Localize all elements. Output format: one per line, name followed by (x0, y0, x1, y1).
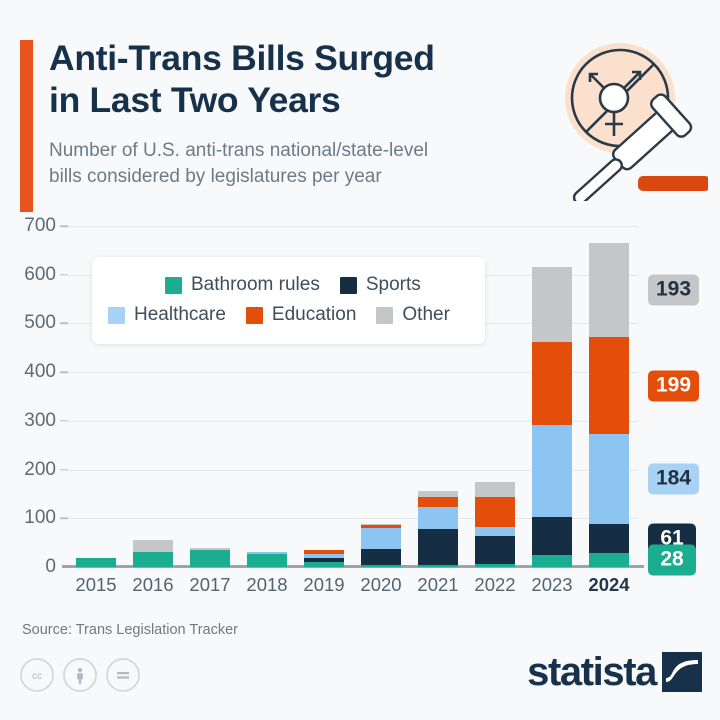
legend-swatch-icon (108, 307, 125, 324)
x-tick-2015: 2015 (66, 574, 126, 596)
svg-text:cc: cc (32, 671, 42, 682)
bar-segment (475, 497, 515, 527)
x-tick-2020: 2020 (351, 574, 411, 596)
bar-segment (589, 337, 629, 434)
x-tick-2024: 2024 (579, 574, 639, 596)
bar-column-2021[interactable] (418, 491, 458, 567)
bar-segment (190, 550, 230, 567)
bar-segment (418, 529, 458, 566)
legend-label: Education (272, 304, 357, 326)
bar-column-2020[interactable] (361, 524, 401, 567)
y-tick-400: 400 (8, 361, 56, 383)
legend-swatch-icon (165, 277, 182, 294)
infographic-root: Anti-Trans Bills Surged in Last Two Year… (0, 0, 720, 720)
y-tick-100: 100 (8, 507, 56, 529)
bar-column-2022[interactable] (475, 482, 515, 567)
bar-column-2015[interactable] (76, 558, 116, 567)
bar-column-2023[interactable] (532, 267, 572, 567)
bar-segment (475, 536, 515, 564)
bar-column-2017[interactable] (190, 548, 230, 567)
bar-segment (361, 565, 401, 567)
value-label-bathroom-rules: 28 (648, 545, 696, 576)
bar-segment (532, 342, 572, 425)
bar-segment (304, 554, 344, 558)
bar-segment (475, 482, 515, 497)
bar-segment (304, 562, 344, 567)
bar-segment (304, 550, 344, 554)
bar-segment (418, 507, 458, 528)
y-tick-300: 300 (8, 410, 56, 432)
y-tick-mark (60, 323, 68, 325)
bar-segment (247, 552, 287, 554)
page-title: Anti-Trans Bills Surged in Last Two Year… (49, 38, 529, 122)
page-subtitle: Number of U.S. anti-trans national/state… (49, 138, 549, 189)
bar-segment (418, 497, 458, 507)
bar-segment (133, 540, 173, 553)
bar-segment (418, 565, 458, 567)
legend-item-education[interactable]: Education (246, 304, 357, 326)
bar-column-2019[interactable] (304, 550, 344, 567)
bar-segment (133, 552, 173, 567)
y-tick-500: 500 (8, 312, 56, 334)
legend-label: Healthcare (134, 304, 226, 326)
value-label-column: 1931991846128 (648, 212, 720, 602)
no-trans-gavel-illustration (548, 36, 708, 201)
bar-segment (532, 267, 572, 343)
x-tick-2018: 2018 (237, 574, 297, 596)
accent-bar (20, 40, 33, 212)
no-derivatives-icon (106, 658, 140, 692)
bar-segment (475, 564, 515, 567)
legend-row-2: Healthcare Education Other (108, 300, 469, 330)
legend-label: Sports (366, 274, 421, 296)
bar-segment (589, 553, 629, 567)
x-tick-2022: 2022 (465, 574, 525, 596)
title-line-2: in Last Two Years (49, 80, 529, 122)
legend-item-bathroom-rules[interactable]: Bathroom rules (165, 274, 320, 296)
bar-column-2024[interactable] (589, 243, 629, 567)
bar-segment (532, 517, 572, 555)
bar-segment (532, 425, 572, 517)
statista-logo: statista (527, 652, 702, 692)
source-note: Source: Trans Legislation Tracker (22, 622, 238, 638)
bar-segment (589, 524, 629, 554)
bar-segment (361, 525, 401, 527)
legend-label: Other (402, 304, 450, 326)
bar-segment (589, 243, 629, 337)
legend-swatch-icon (246, 307, 263, 324)
y-tick-mark (60, 274, 68, 276)
bar-segment (532, 555, 572, 567)
creative-commons-icons: cc (20, 658, 140, 692)
attribution-icon (63, 658, 97, 692)
x-tick-2017: 2017 (180, 574, 240, 596)
statista-wordmark: statista (527, 652, 656, 692)
bar-segment (361, 549, 401, 565)
y-tick-mark (60, 371, 68, 373)
y-tick-200: 200 (8, 459, 56, 481)
bar-segment (247, 554, 287, 567)
legend-swatch-icon (340, 277, 357, 294)
y-tick-600: 600 (8, 264, 56, 286)
title-line-1: Anti-Trans Bills Surged (49, 38, 529, 80)
bar-segment (361, 524, 401, 525)
bar-segment (589, 434, 629, 524)
legend-item-other[interactable]: Other (376, 304, 450, 326)
value-label-education: 199 (648, 370, 699, 401)
bar-column-2016[interactable] (133, 540, 173, 567)
x-tick-2019: 2019 (294, 574, 354, 596)
y-tick-mark (60, 469, 68, 471)
y-tick-mark (60, 518, 68, 520)
x-tick-2016: 2016 (123, 574, 183, 596)
subtitle-line-2: bills considered by legislatures per yea… (49, 164, 549, 190)
subtitle-line-1: Number of U.S. anti-trans national/state… (49, 138, 549, 164)
x-axis-labels: 2015 2016 2017 2018 2019 2020 2021 2022 … (68, 574, 638, 602)
legend-label: Bathroom rules (191, 274, 320, 296)
legend-swatch-icon (376, 307, 393, 324)
legend-item-sports[interactable]: Sports (340, 274, 421, 296)
value-label-healthcare: 184 (648, 463, 699, 494)
bar-segment (190, 548, 230, 550)
bar-segment (361, 528, 401, 550)
bar-segment (475, 527, 515, 536)
legend-item-healthcare[interactable]: Healthcare (108, 304, 226, 326)
value-label-other: 193 (648, 275, 699, 306)
legend-row-1: Bathroom rules Sports (108, 270, 469, 300)
bar-column-2018[interactable] (247, 552, 287, 567)
statista-mark-icon (662, 652, 702, 692)
bar-segment (304, 558, 344, 562)
y-tick-700: 700 (8, 215, 56, 237)
cc-icon: cc (20, 658, 54, 692)
y-tick-0: 0 (8, 556, 56, 578)
bar-segment (418, 491, 458, 497)
y-tick-mark (60, 225, 68, 227)
y-tick-mark (60, 420, 68, 422)
bar-segment (76, 558, 116, 567)
chart-legend: Bathroom rules Sports Healthcare Educati… (92, 257, 485, 344)
x-tick-2021: 2021 (408, 574, 468, 596)
x-tick-2023: 2023 (522, 574, 582, 596)
